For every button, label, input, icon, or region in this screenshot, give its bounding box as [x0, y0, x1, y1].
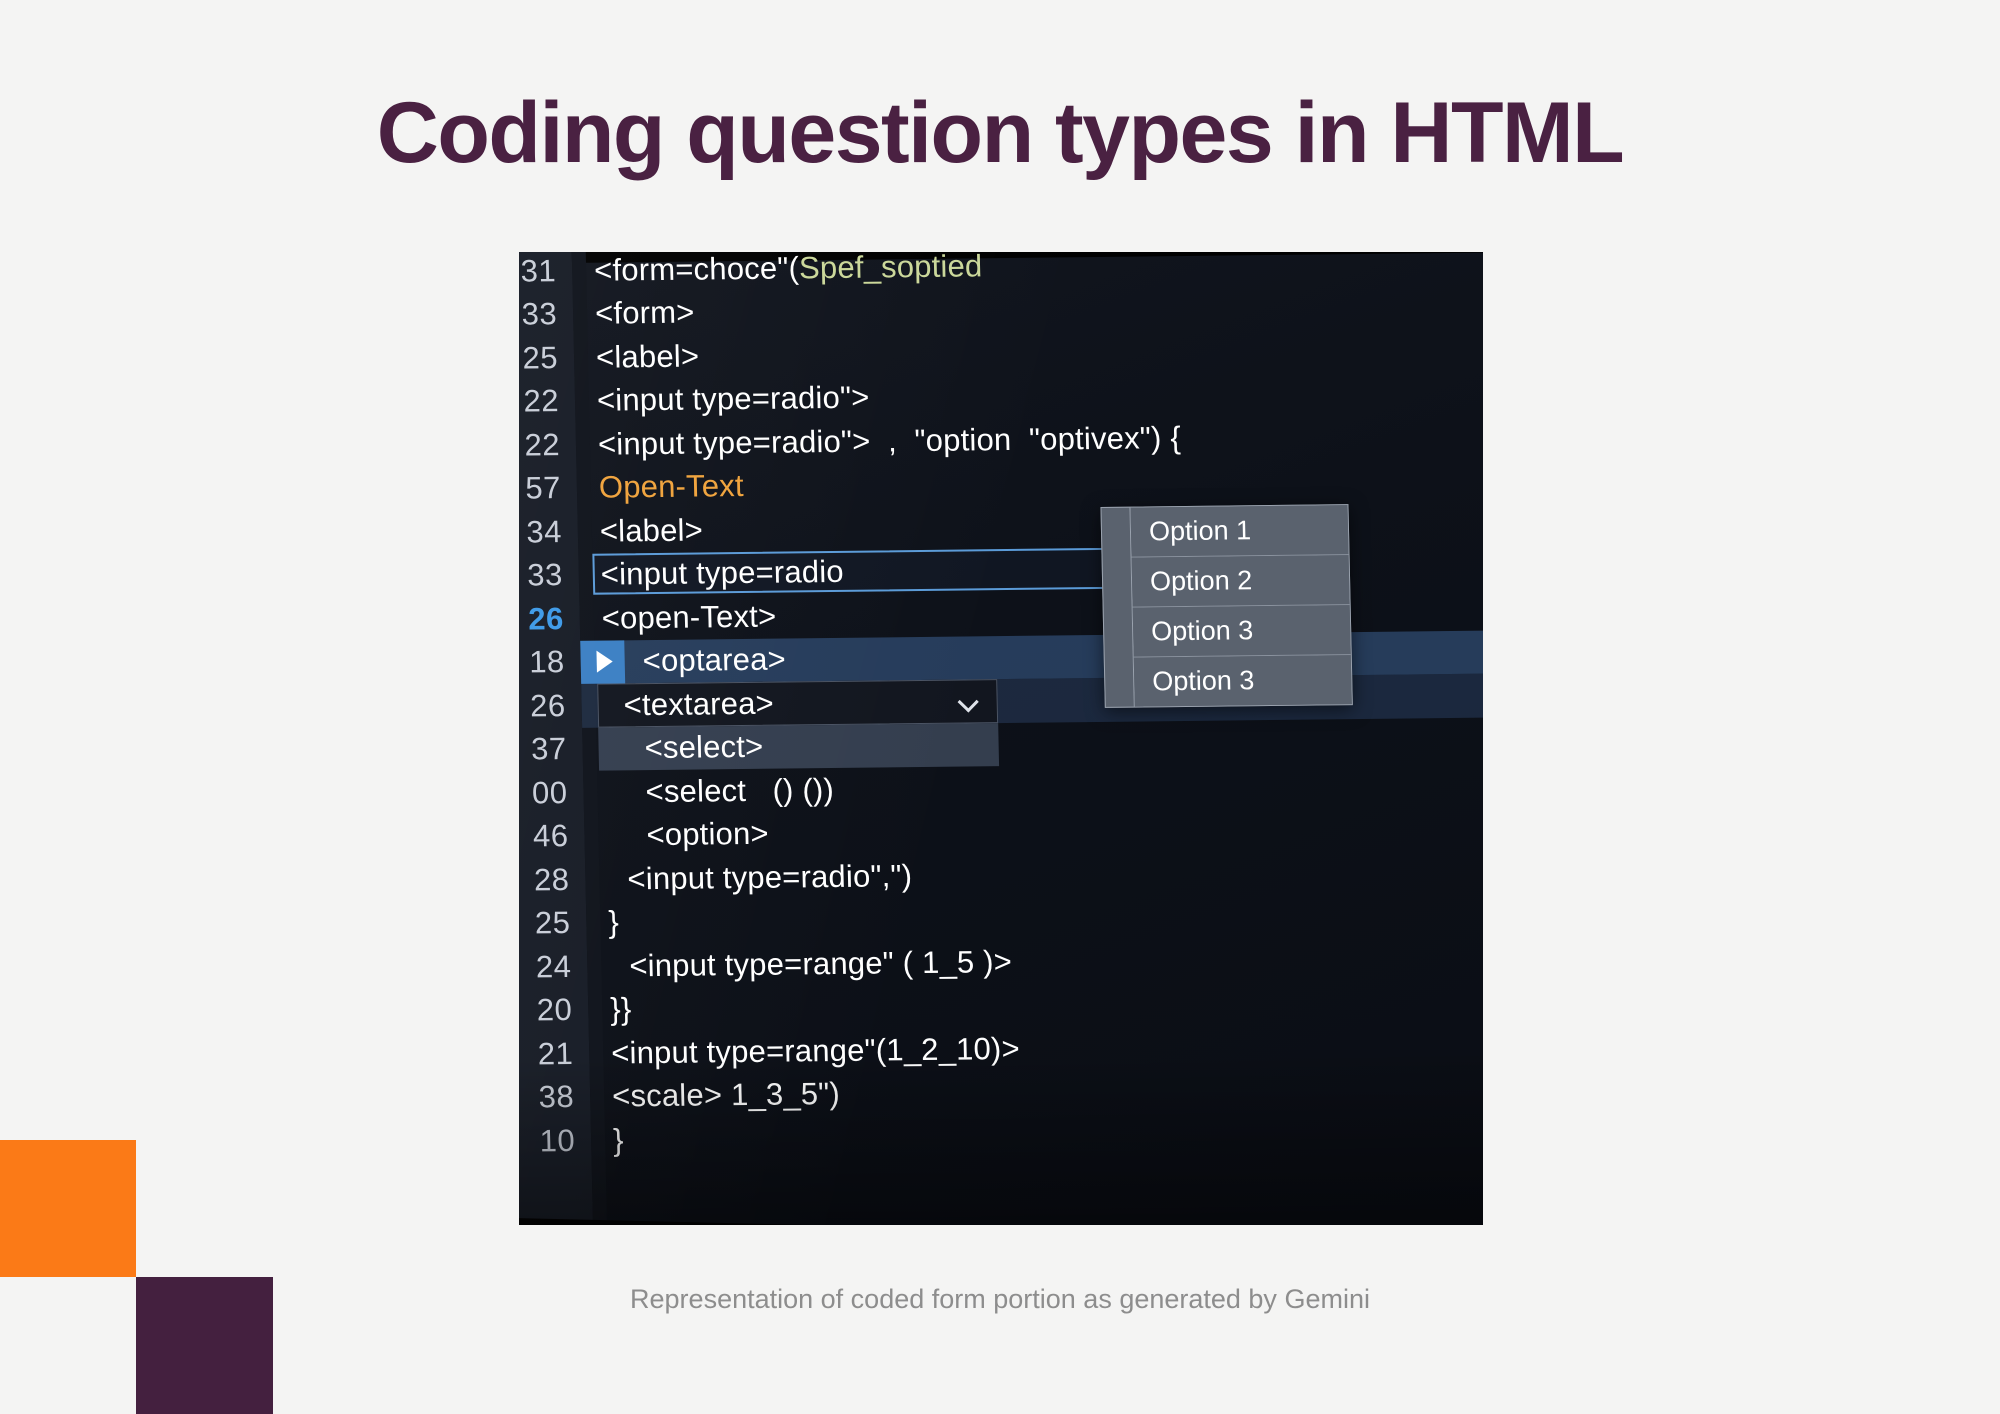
line-number: 38 — [519, 1079, 591, 1116]
line-number: 18 — [519, 644, 581, 681]
code-line-text: <scale> 1_3_5") — [612, 1076, 841, 1115]
code-line-text: <input type=radio",") — [627, 858, 913, 897]
line-number: 46 — [519, 818, 585, 855]
code-line-text: } — [608, 905, 619, 941]
code-line-text: <label> — [599, 512, 703, 549]
editor-surface: 31<form=choce"(Spef_soptied33<form>25<la… — [519, 252, 1483, 1225]
monitor-bottom-bezel — [519, 1218, 1483, 1225]
line-number: 26 — [519, 601, 580, 638]
line-number: 20 — [519, 992, 589, 1029]
code-line-text: <option> — [646, 816, 769, 853]
line-number: 34 — [519, 514, 578, 551]
code-line-text: <input type=radio"> , "option "optivex")… — [598, 420, 1182, 463]
line-number: 21 — [519, 1036, 590, 1073]
line-number: 25 — [519, 905, 587, 942]
dropdown-option-item[interactable]: Option 2 — [1132, 555, 1350, 607]
line-number: 37 — [519, 731, 583, 768]
line-number: 57 — [519, 470, 577, 507]
code-line-text: <input type=radio — [600, 554, 844, 593]
line-number: 28 — [519, 862, 586, 899]
code-line-text: <input type=radio"> — [597, 380, 870, 419]
line-number: 31 — [519, 253, 573, 290]
code-line-text: <select> — [644, 729, 764, 766]
code-line-text: <form=choce"(Spef_soptied — [594, 252, 983, 288]
code-token-string: Spef_soptied — [799, 252, 983, 285]
code-line-text: <form> — [595, 295, 695, 332]
code-line-text: }} — [610, 992, 632, 1028]
code-line-text: <textarea> — [623, 685, 774, 723]
code-line-text: <input type=range"(1_2_10)> — [611, 1031, 1020, 1072]
code-line-text: <label> — [596, 338, 700, 375]
dropdown-option-item[interactable]: Option 1 — [1130, 505, 1348, 557]
line-number: 22 — [519, 427, 576, 464]
code-editor-screenshot: 31<form=choce"(Spef_soptied33<form>25<la… — [519, 252, 1483, 1225]
line-number: 24 — [519, 949, 588, 986]
line-number: 25 — [519, 340, 574, 377]
code-line-text: <input type=range" ( 1_5 )> — [629, 944, 1012, 984]
code-token-keyword: Open-Text — [599, 468, 745, 505]
code-line-text: <optarea> — [642, 642, 786, 680]
dropdown-option-item[interactable]: Option 3 — [1134, 655, 1352, 706]
page-title: Coding question types in HTML — [0, 88, 2000, 178]
chevron-down-icon[interactable] — [958, 692, 976, 710]
code-line-text: <open-Text> — [601, 598, 776, 636]
options-dropdown-popup[interactable]: Option 1Option 2Option 3Option 3 — [1100, 504, 1352, 708]
code-line-text: <select () ()) — [645, 772, 834, 810]
decorative-orange-square — [0, 1140, 136, 1277]
code-line-text: Open-Text — [599, 468, 745, 506]
line-number: 22 — [519, 383, 575, 420]
line-number: 00 — [519, 775, 584, 812]
line-number: 33 — [519, 557, 579, 594]
image-caption: Representation of coded form portion as … — [0, 1284, 2000, 1315]
dropdown-option-item[interactable]: Option 3 — [1133, 605, 1351, 657]
line-number: 10 — [519, 1122, 592, 1159]
line-number: 26 — [519, 688, 582, 725]
run-play-icon[interactable] — [580, 640, 625, 684]
code-line-text: } — [613, 1122, 624, 1158]
line-number: 33 — [519, 296, 574, 333]
play-triangle-icon — [596, 651, 612, 673]
code-lines-container: 31<form=choce"(Spef_soptied33<form>25<la… — [519, 252, 1483, 1163]
